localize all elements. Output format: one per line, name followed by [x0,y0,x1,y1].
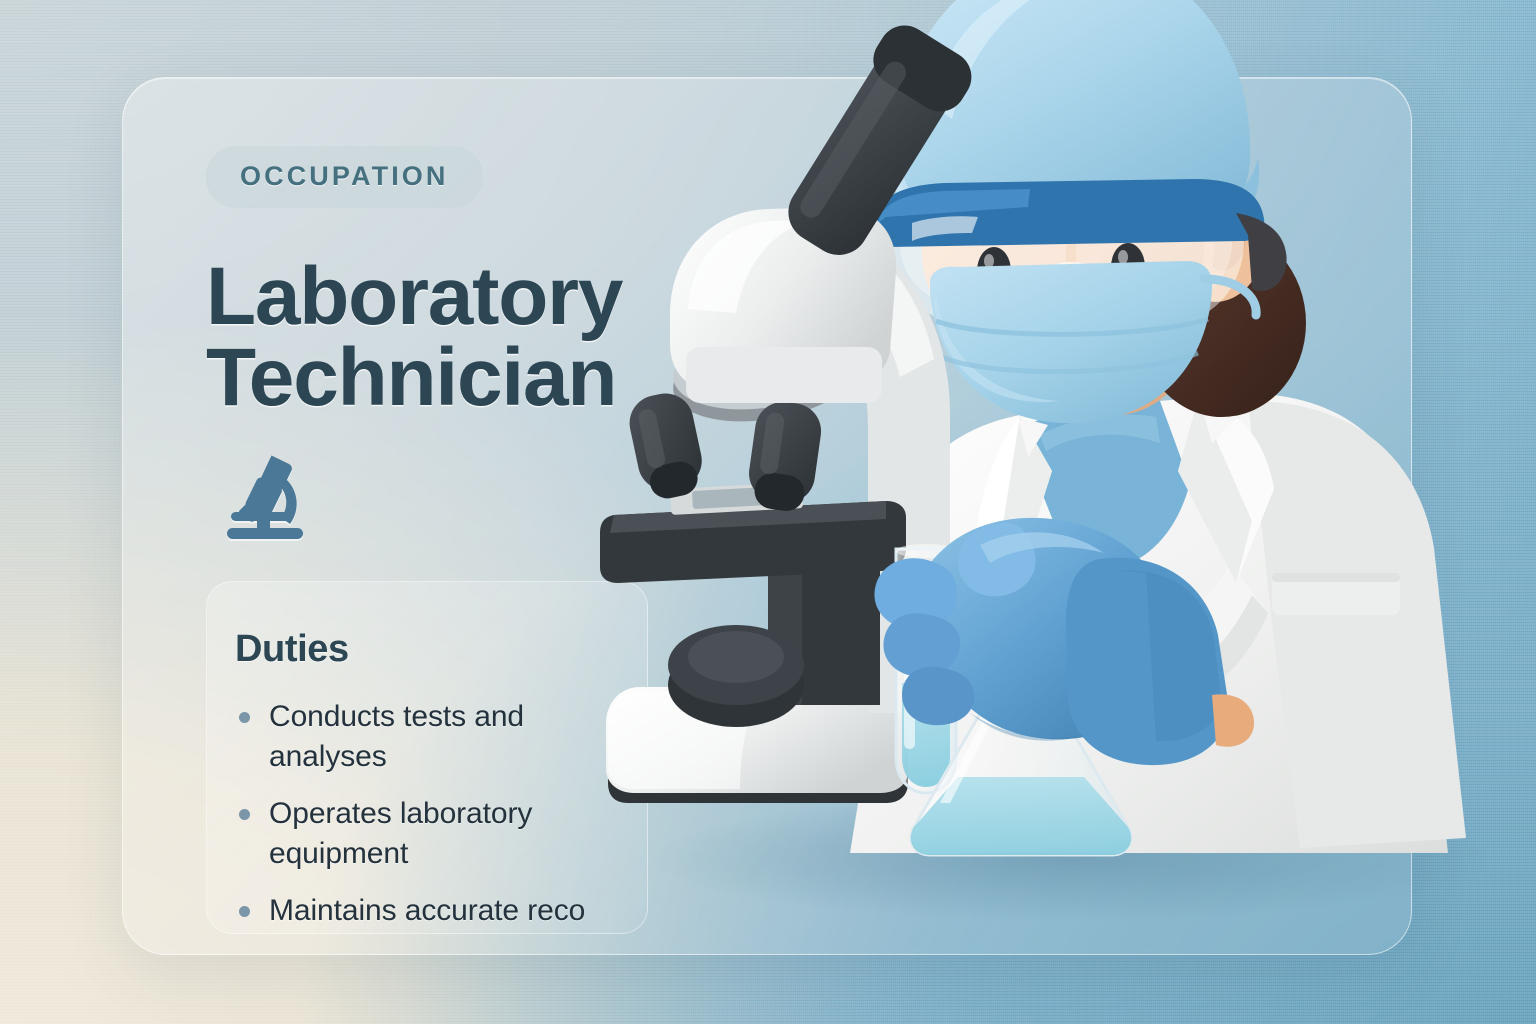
screenshot-canvas: OCCUPATION Laboratory Technician [0,0,1536,1024]
duty-item-2: Operates laboratory equipment [235,794,648,874]
bullet-dot-icon [239,809,250,820]
occupation-badge: OCCUPATION [206,146,483,208]
bullet-dot-icon [239,906,250,917]
microscope-icon [211,452,319,544]
duties-list: Conducts tests and analyses Operates lab… [235,697,648,930]
duty-item-3: Maintains accurate reco [235,891,648,931]
lab-technician-illustration [600,0,1536,947]
duty-text: Maintains accurate reco [269,891,648,931]
duty-text: Operates laboratory equipment [269,794,569,874]
duties-panel: Duties Conducts tests and analyses Opera… [206,581,648,934]
duty-text: Conducts tests and analyses [269,697,569,777]
duty-item-1: Conducts tests and analyses [235,697,648,777]
duties-heading: Duties [235,628,647,671]
bullet-dot-icon [239,712,250,723]
